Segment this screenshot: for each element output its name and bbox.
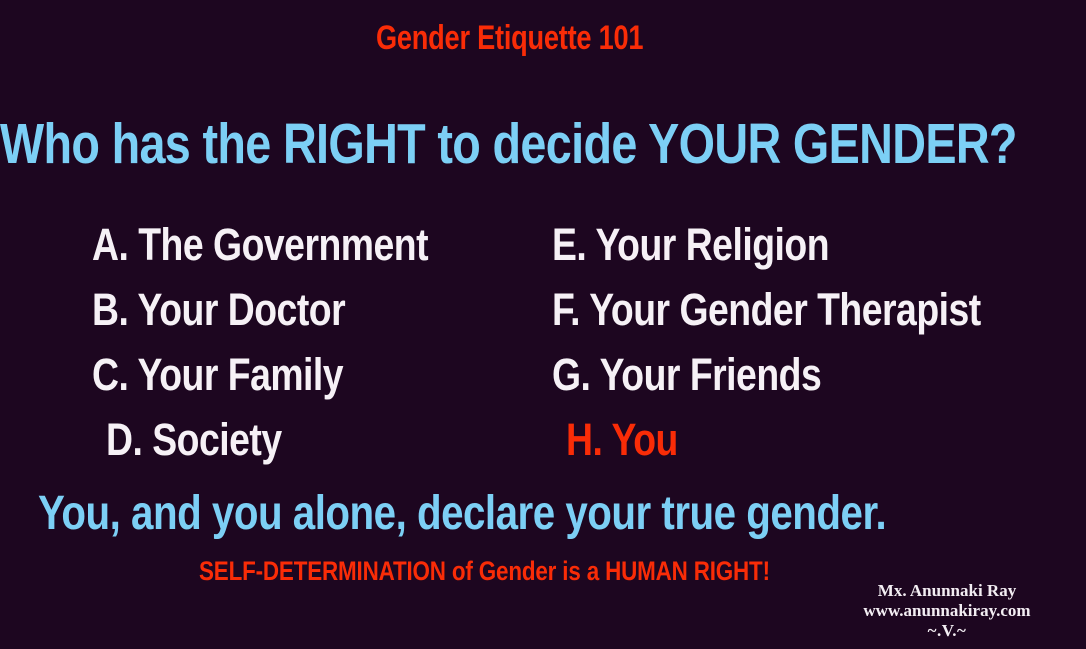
options-grid: A. The Government B. Your Doctor C. Your… <box>0 222 1086 482</box>
options-column-right: E. Your Religion F. Your Gender Therapis… <box>552 222 1069 482</box>
signature-name: Mx. Anunnaki Ray <box>832 581 1062 601</box>
option-a-label: A. The Government <box>92 222 428 267</box>
signature-mark: ~.V.~ <box>832 621 1062 641</box>
option-e-label: E. Your Religion <box>552 222 829 267</box>
option-h-label: H. You <box>566 417 678 462</box>
title-row: Gender Etiquette 101 <box>0 21 1086 55</box>
option-e[interactable]: E. Your Religion <box>552 222 1069 267</box>
option-d[interactable]: D. Society <box>92 417 497 462</box>
main-question: Who has the RIGHT to decide YOUR GENDER? <box>0 116 1017 173</box>
signature-block: Mx. Anunnaki Ray www.anunnakiray.com ~.V… <box>832 581 1062 641</box>
poster-canvas: Gender Etiquette 101 Who has the RIGHT t… <box>0 0 1086 649</box>
option-b-label: B. Your Doctor <box>92 287 345 332</box>
slogan-text: SELF-DETERMINATION of Gender is a HUMAN … <box>199 558 770 585</box>
page-title: Gender Etiquette 101 <box>376 21 643 55</box>
option-b[interactable]: B. Your Doctor <box>92 287 497 332</box>
declaration-row: You, and you alone, declare your true ge… <box>0 490 1086 538</box>
option-d-label: D. Society <box>106 417 282 462</box>
option-g[interactable]: G. Your Friends <box>552 352 1069 397</box>
option-c-label: C. Your Family <box>92 352 343 397</box>
option-g-label: G. Your Friends <box>552 352 821 397</box>
option-h[interactable]: H. You <box>552 417 1069 462</box>
options-column-left: A. The Government B. Your Doctor C. Your… <box>92 222 497 482</box>
declaration-text: You, and you alone, declare your true ge… <box>38 490 886 538</box>
option-f-label: F. Your Gender Therapist <box>552 287 981 332</box>
option-a[interactable]: A. The Government <box>92 222 497 267</box>
option-f[interactable]: F. Your Gender Therapist <box>552 287 1069 332</box>
signature-website[interactable]: www.anunnakiray.com <box>832 601 1062 621</box>
question-row: Who has the RIGHT to decide YOUR GENDER? <box>0 116 1086 173</box>
option-c[interactable]: C. Your Family <box>92 352 497 397</box>
